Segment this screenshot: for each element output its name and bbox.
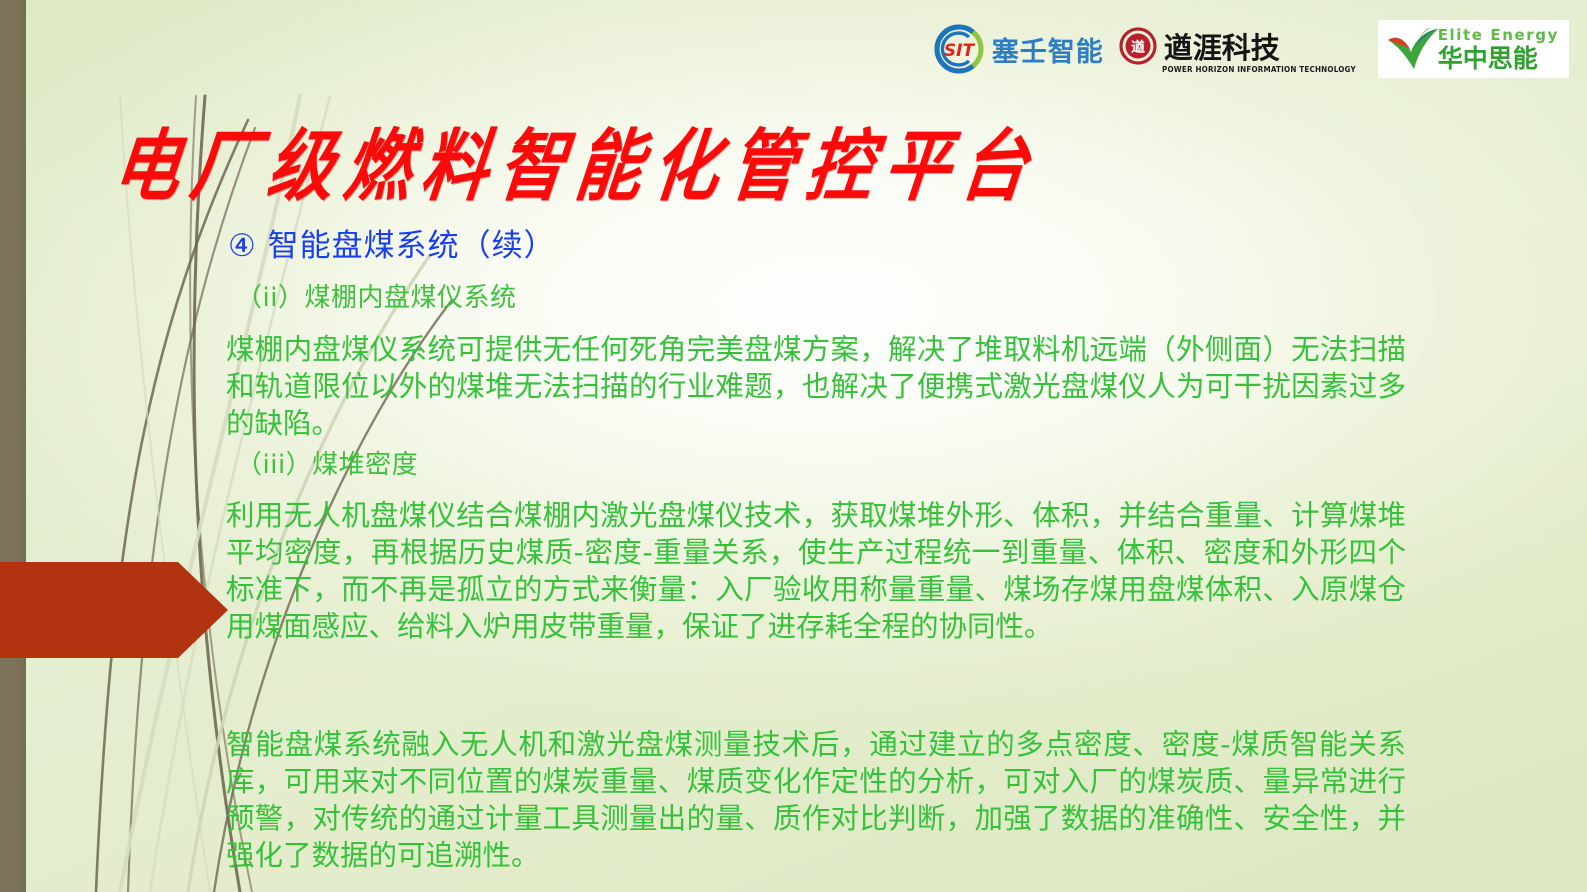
logo-elite-energy: Elite Energy 华中思能: [1378, 20, 1569, 78]
sub-heading-iii: （iii）煤堆密度: [236, 444, 418, 481]
presentation-slide: SIT 塞壬智能 遒 遒涯科技 POWER HORIZON INFORMATIO…: [0, 0, 1587, 892]
paragraph-summary: 智能盘煤系统融入无人机和激光盘煤测量技术后，通过建立的多点密度、密度-煤质智能关…: [226, 726, 1406, 874]
elite-energy-check-icon: [1384, 26, 1442, 72]
logo-row: SIT 塞壬智能 遒 遒涯科技 POWER HORIZON INFORMATIO…: [933, 18, 1569, 80]
paragraph-coal-shed-system: 煤棚内盘煤仪系统可提供无任何死角完美盘煤方案，解决了堆取料机远端（外侧面）无法扫…: [226, 331, 1406, 442]
power-horizon-seal-icon: 遒: [1118, 26, 1158, 66]
svg-text:SIT: SIT: [944, 41, 976, 61]
paragraph-coal-pile-density: 利用无人机盘煤仪结合煤棚内激光盘煤仪技术，获取煤堆外形、体积，并结合重量、计算煤…: [226, 497, 1406, 645]
logo-sit-label: 塞壬智能: [992, 30, 1104, 69]
logo-power-horizon-label: 遒涯科技: [1164, 25, 1280, 67]
sit-circle-logo-icon: SIT: [933, 23, 985, 75]
logo-elite-energy-en: Elite Energy: [1438, 28, 1559, 43]
logo-power-horizon: 遒 遒涯科技 POWER HORIZON INFORMATION TECHNOL…: [1118, 18, 1364, 80]
left-accent-band: [0, 0, 26, 892]
svg-text:遒: 遒: [1131, 39, 1145, 56]
logo-power-horizon-sublabel: POWER HORIZON INFORMATION TECHNOLOGY: [1162, 65, 1356, 74]
section-heading: ④ 智能盘煤系统（续）: [228, 220, 556, 265]
page-title: 电厂级燃料智能化管控平台: [108, 103, 1046, 216]
logo-elite-energy-cn: 华中思能: [1438, 46, 1559, 71]
red-arrow-banner: [0, 560, 228, 660]
sub-heading-ii: （ii）煤棚内盘煤仪系统: [236, 277, 516, 314]
logo-sit: SIT 塞壬智能: [933, 18, 1104, 80]
